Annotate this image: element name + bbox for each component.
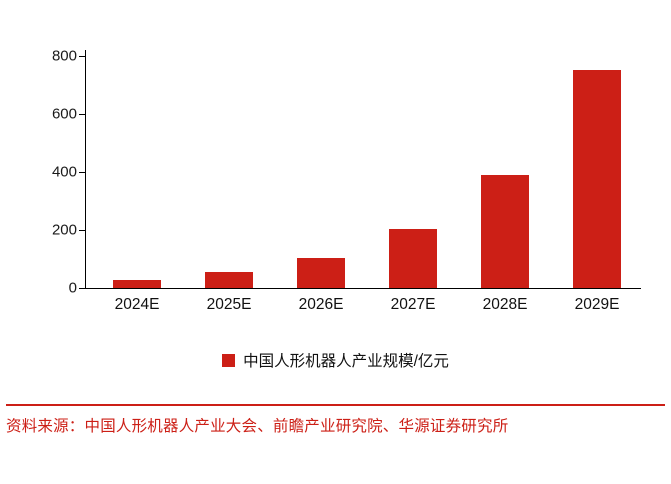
x-tick-label-2025E: 2025E: [207, 296, 252, 314]
x-axis-tick-labels: 2024E 2025E 2026E 2027E 2028E 2029E: [85, 296, 640, 322]
y-tick-label-800: 800: [52, 48, 77, 65]
source-note: 资料来源：中国人形机器人产业大会、前瞻产业研究院、华源证券研究所: [6, 414, 665, 440]
y-axis-tick-labels: 0 200 400 600 800: [0, 0, 77, 400]
chart-page: 0 200 400 600 800 2024E 2025E 2026E 2027…: [0, 0, 671, 484]
chart-legend: 中国人形机器人产业规模/亿元: [0, 349, 671, 371]
bar-2028E: [481, 175, 529, 288]
plot-area: [85, 56, 640, 288]
bar-2025E: [205, 272, 253, 288]
legend-label: 中国人形机器人产业规模/亿元: [243, 349, 449, 371]
bar-2027E: [389, 229, 437, 288]
x-tick-label-2026E: 2026E: [299, 296, 344, 314]
x-axis-line: [85, 288, 641, 289]
y-tick-label-600: 600: [52, 106, 77, 123]
x-tick-label-2029E: 2029E: [575, 296, 620, 314]
bar-2026E: [297, 258, 345, 289]
y-tick-label-400: 400: [52, 164, 77, 181]
bar-2029E: [573, 70, 621, 288]
x-tick-label-2027E: 2027E: [391, 296, 436, 314]
y-tick-label-0: 0: [69, 280, 77, 297]
x-tick-label-2028E: 2028E: [483, 296, 528, 314]
bar-2024E: [113, 280, 161, 288]
footer-divider: [6, 404, 665, 406]
bar-chart: 0 200 400 600 800 2024E 2025E 2026E 2027…: [0, 0, 671, 400]
legend-swatch-icon: [222, 354, 235, 367]
y-tick-label-200: 200: [52, 222, 77, 239]
x-tick-label-2024E: 2024E: [115, 296, 160, 314]
